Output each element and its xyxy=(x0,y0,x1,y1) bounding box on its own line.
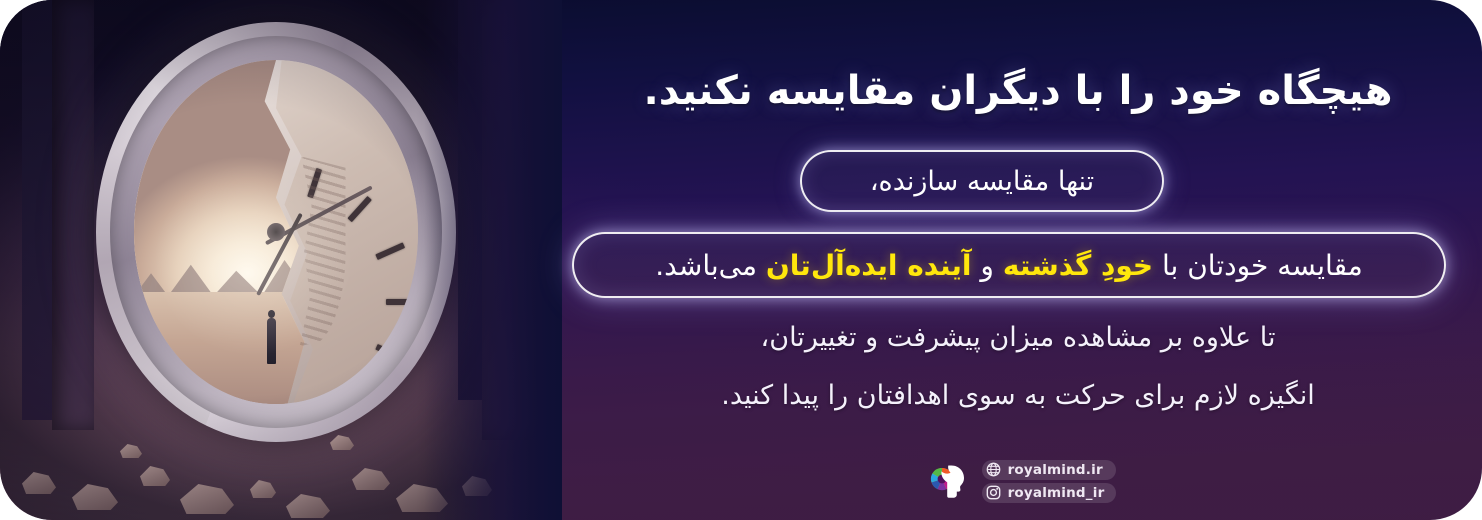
instagram-icon xyxy=(986,485,1001,500)
art-right-door-far xyxy=(458,0,484,400)
art-left-door xyxy=(52,0,94,430)
clock-face xyxy=(134,60,418,404)
instagram-handle[interactable]: royalmind_ir xyxy=(982,483,1117,503)
art-left-door-far xyxy=(22,0,56,420)
brand-footer: royalmind.ir royalmind_ir xyxy=(560,458,1482,504)
callout-pill-secondary-text: مقایسه خودتان با خودِ گذشته و آینده ایده… xyxy=(655,249,1362,282)
copy-panel: هیچگاه خود را با دیگران مقایسه نکنید. تن… xyxy=(560,0,1482,520)
website-handle[interactable]: royalmind.ir xyxy=(982,460,1117,480)
art-right-door xyxy=(482,0,552,440)
surreal-clock-portal-artwork xyxy=(0,0,562,520)
clock-center-hub xyxy=(267,223,285,241)
headline: هیچگاه خود را با دیگران مقایسه نکنید. xyxy=(584,66,1452,116)
pill2-highlight-2: آینده ایده‌آل‌تان xyxy=(766,249,972,282)
pill2-part-3: می‌باشد. xyxy=(655,249,766,282)
body-line-1: تا علاوه بر مشاهده میزان پیشرفت و تغییرت… xyxy=(584,320,1452,355)
giant-clock xyxy=(96,22,456,442)
body-line-2: انگیزه لازم برای حرکت به سوی اهدافتان را… xyxy=(584,378,1452,413)
instagram-handle-label: royalmind_ir xyxy=(1008,485,1105,501)
callout-pill-primary: تنها مقایسه سازنده، xyxy=(800,150,1164,212)
social-handles: royalmind.ir royalmind_ir xyxy=(982,460,1117,503)
royalmind-logo xyxy=(926,458,972,504)
pill2-part-1: مقایسه خودتان با xyxy=(1153,249,1363,282)
pill2-highlight-1: خودِ گذشته xyxy=(1003,249,1153,282)
website-handle-label: royalmind.ir xyxy=(1008,462,1103,478)
globe-icon xyxy=(986,462,1001,477)
promo-banner: هیچگاه خود را با دیگران مقایسه نکنید. تن… xyxy=(0,0,1482,520)
foreground-rubble xyxy=(0,400,562,520)
callout-pill-primary-label: تنها مقایسه سازنده، xyxy=(870,166,1094,197)
pill2-part-2: و xyxy=(972,249,1003,282)
callout-pill-secondary: مقایسه خودتان با خودِ گذشته و آینده ایده… xyxy=(572,232,1446,298)
